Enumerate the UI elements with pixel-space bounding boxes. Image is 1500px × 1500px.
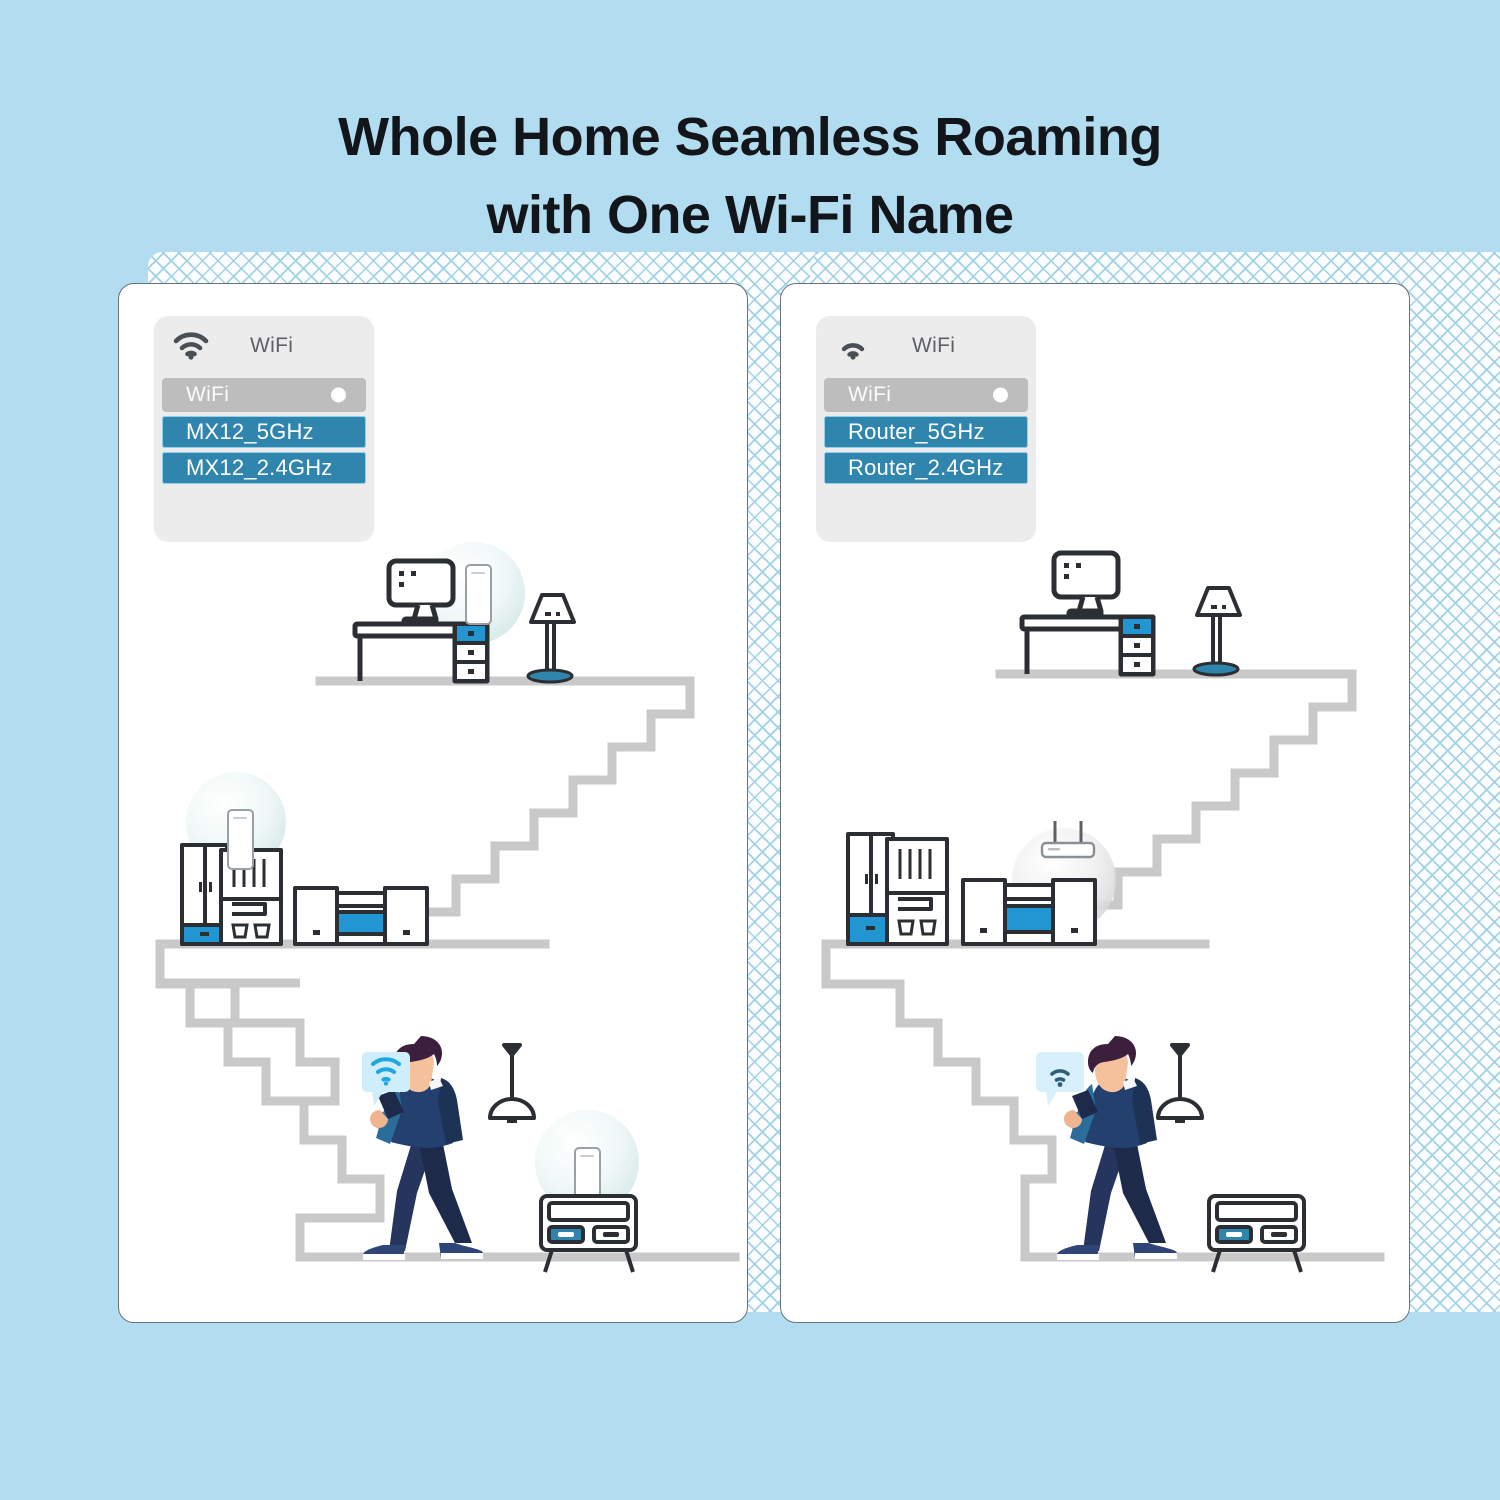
floor-lamp-upper-left <box>528 595 574 682</box>
wifi-network-row-left-1[interactable]: MX12_2.4GHz <box>162 452 366 484</box>
wifi-chooser-header-left: WiFi <box>154 316 374 378</box>
wifi-toggle-left[interactable]: WiFi <box>162 378 366 412</box>
wifi-chooser-right[interactable]: WiFi WiFi Router_5GHz Router_2.4GHz <box>816 316 1036 542</box>
mesh-node-middle-left <box>228 810 253 869</box>
wifi-network-label-left-1: MX12_2.4GHz <box>186 455 333 481</box>
wifi-network-row-right-1[interactable]: Router_2.4GHz <box>824 452 1028 484</box>
console-button-marks-right <box>1226 1232 1242 1237</box>
wifi-chooser-header-right: WiFi <box>816 316 1036 378</box>
pendant-lamp-left <box>490 1045 534 1123</box>
wifi-network-row-right-0[interactable]: Router_5GHz <box>824 416 1028 448</box>
wifi-strong-icon <box>172 330 210 360</box>
console-button-marks-left-2 <box>603 1232 619 1237</box>
staircase-lower-right <box>826 944 1052 1257</box>
console-button-marks-right-2 <box>1271 1232 1287 1237</box>
page-title: Whole Home Seamless Roaming with One Wi-… <box>0 98 1500 254</box>
wifi-toggle-knob-left[interactable] <box>331 388 346 403</box>
mesh-node-upper-left <box>466 565 491 624</box>
shelf-unit-middle-right <box>963 880 1095 944</box>
wifi-chooser-left[interactable]: WiFi WiFi MX12_5GHz MX12_2.4GHz <box>154 316 374 542</box>
page-root: Whole Home Seamless Roaming with One Wi-… <box>0 0 1500 1500</box>
shelf-unit-middle-left <box>295 888 427 944</box>
wifi-toggle-label-right: WiFi <box>848 383 891 407</box>
page-title-line-1: Whole Home Seamless Roaming <box>0 98 1500 176</box>
console-button-marks-left <box>558 1232 574 1237</box>
wifi-toggle-knob-right[interactable] <box>993 388 1008 403</box>
wifi-network-row-left-0[interactable]: MX12_5GHz <box>162 416 366 448</box>
wifi-chooser-title-right: WiFi <box>912 334 955 358</box>
kitchen-counter-middle-right <box>887 839 947 944</box>
floor-lamp-upper-right <box>1194 588 1240 675</box>
pendant-lamp-right <box>1158 1045 1202 1123</box>
wifi-weak-icon <box>834 330 872 360</box>
wifi-toggle-right[interactable]: WiFi <box>824 378 1028 412</box>
wifi-toggle-label-left: WiFi <box>186 383 229 407</box>
wifi-network-label-left-0: MX12_5GHz <box>186 419 314 445</box>
wifi-chooser-title-left: WiFi <box>250 334 293 358</box>
wifi-network-label-right-0: Router_5GHz <box>848 419 985 445</box>
wifi-network-label-right-1: Router_2.4GHz <box>848 455 1003 481</box>
page-title-line-2: with One Wi-Fi Name <box>0 176 1500 254</box>
